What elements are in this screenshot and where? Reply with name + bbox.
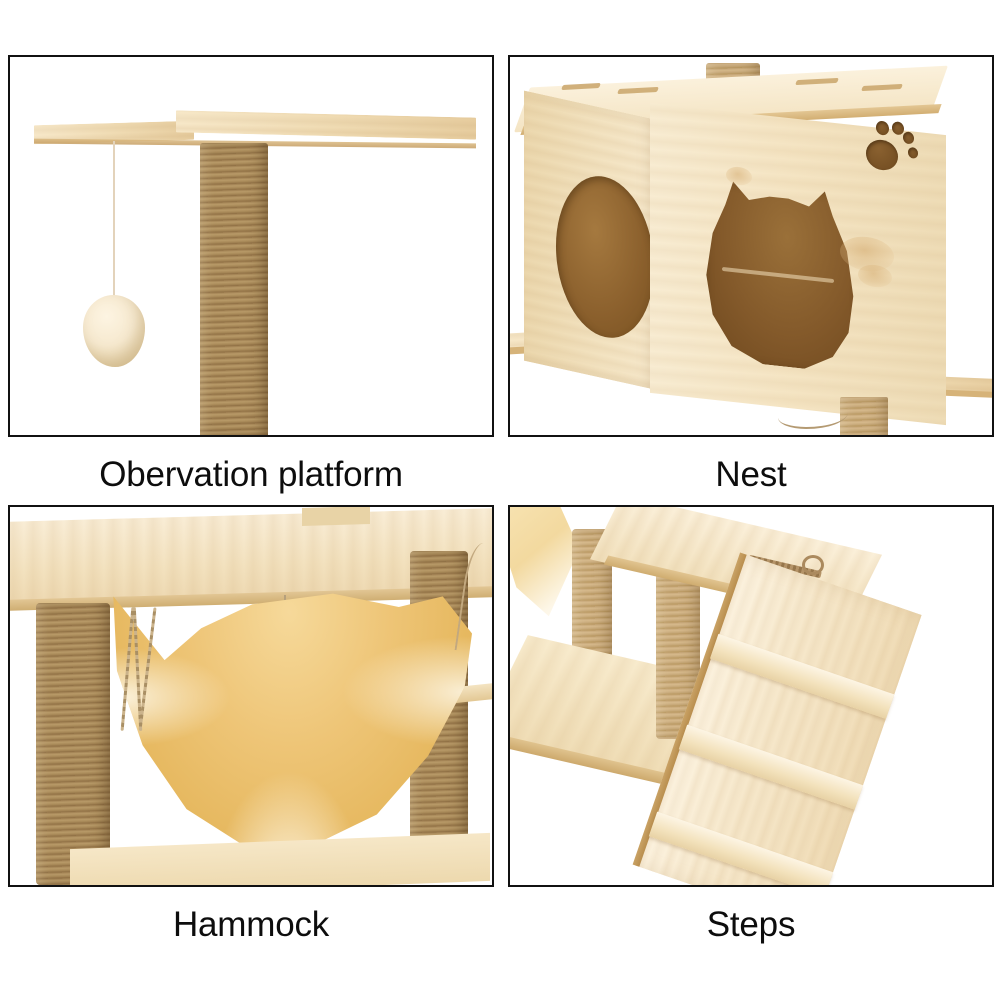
toy-hanging-string <box>113 141 115 306</box>
caption-hammock: Hammock <box>8 903 494 947</box>
hammock-lower-shelf <box>70 833 490 887</box>
platform-board-right <box>176 110 476 139</box>
paw-toe-pad <box>903 131 914 144</box>
rope-strand <box>138 607 156 730</box>
rope-loop <box>802 555 824 575</box>
sisal-scratching-post <box>200 143 268 435</box>
nest-cord <box>778 401 848 429</box>
caption-observation-platform: Obervation platform <box>8 453 494 497</box>
paw-toe-pad <box>892 121 904 135</box>
pom-pom-ball-toy <box>83 295 145 367</box>
braided-rope-tie <box>124 607 158 731</box>
nest-scene <box>510 57 992 435</box>
photo-hammock[interactable] <box>8 505 494 887</box>
feature-cell-nest[interactable]: Nest <box>508 55 994 497</box>
ramp-step-slat <box>679 725 863 810</box>
feature-cell-observation-platform[interactable]: Obervation platform <box>8 55 494 497</box>
paw-toe-pad <box>876 120 889 135</box>
caption-nest: Nest <box>508 453 994 497</box>
sisal-post-left <box>36 603 110 885</box>
product-feature-grid: Obervation platform <box>0 0 1000 1000</box>
feature-grid: Obervation platform <box>0 0 1000 1000</box>
caption-steps: Steps <box>508 903 994 947</box>
photo-steps[interactable] <box>508 505 994 887</box>
ramp-step-slat <box>649 812 833 887</box>
ramp-step-slat <box>710 634 894 719</box>
paw-toe-pad <box>908 147 918 159</box>
feature-cell-steps[interactable]: Steps <box>508 505 994 947</box>
photo-observation-platform[interactable] <box>8 55 494 437</box>
hammock-shelf-block <box>302 506 370 526</box>
paw-print-icon <box>862 118 920 176</box>
paw-main-pad <box>866 138 898 171</box>
photo-nest[interactable] <box>508 55 994 437</box>
feature-cell-hammock[interactable]: Hammock <box>8 505 494 947</box>
